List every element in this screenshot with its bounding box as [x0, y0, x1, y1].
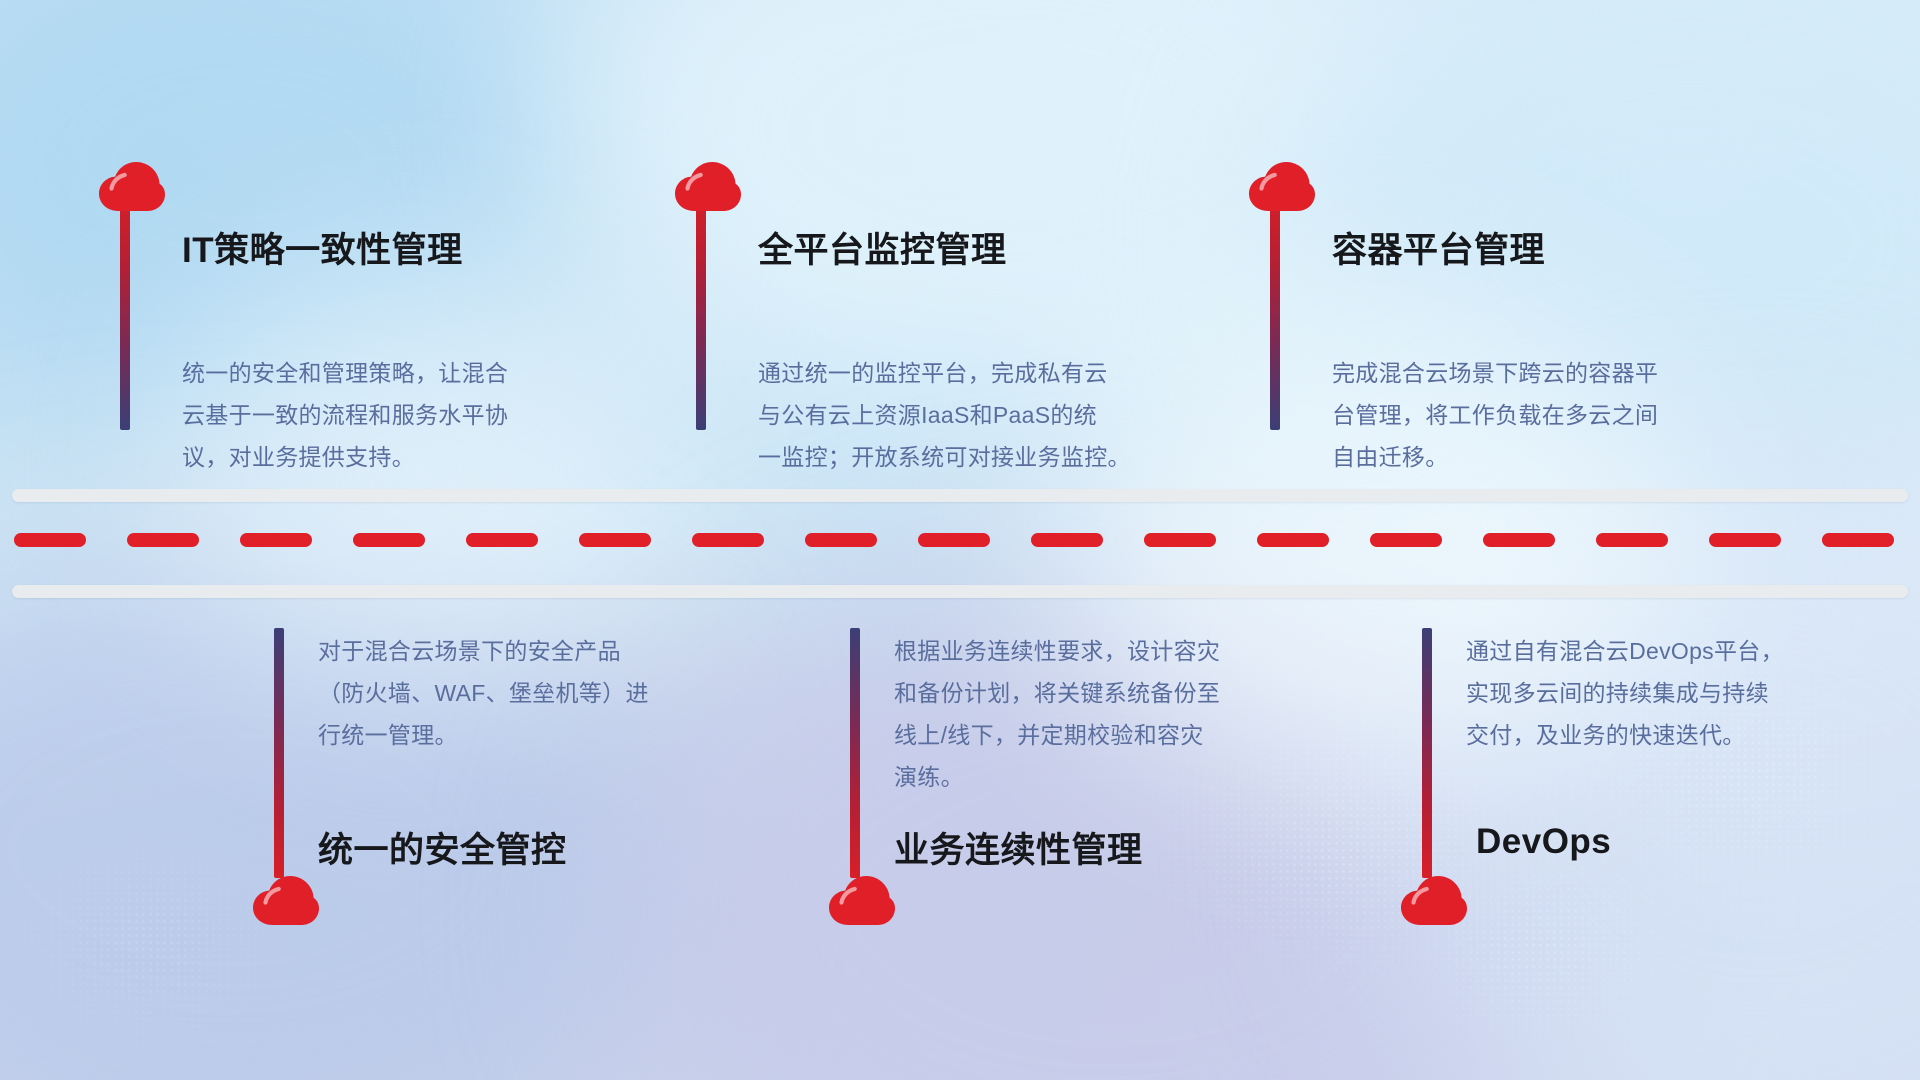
- body-line: 通过统一的监控平台，完成私有云: [758, 352, 1131, 394]
- body-line: 云基于一致的流程和服务水平协: [182, 394, 508, 436]
- feature-body-bottom-1: 对于混合云场景下的安全产品 （防火墙、WAF、堡垒机等）进 行统一管理。: [318, 630, 649, 756]
- body-line: 交付，及业务的快速迭代。: [1466, 714, 1784, 756]
- road-dash: [1031, 533, 1103, 547]
- road-dash: [353, 533, 425, 547]
- road-dash: [127, 533, 199, 547]
- feature-heading-bottom-3: DevOps: [1476, 822, 1611, 862]
- cloud-icon: [828, 876, 896, 926]
- cloud-icon: [1248, 162, 1316, 212]
- body-line: 与公有云上资源IaaS和PaaS的统: [758, 394, 1131, 436]
- cloud-icon: [674, 162, 742, 212]
- feature-body-bottom-3: 通过自有混合云DevOps平台， 实现多云间的持续集成与持续 交付，及业务的快速…: [1466, 630, 1784, 756]
- feature-heading-top-1: IT策略一致性管理: [182, 222, 463, 273]
- body-line: 实现多云间的持续集成与持续: [1466, 672, 1784, 714]
- background-blob: [0, 520, 680, 1080]
- body-line: 一监控；开放系统可对接业务监控。: [758, 436, 1131, 478]
- road-dash: [466, 533, 538, 547]
- body-line: 和备份计划，将关键系统备份至: [894, 672, 1220, 714]
- road-dash: [579, 533, 651, 547]
- feature-heading-top-3: 容器平台管理: [1332, 222, 1545, 273]
- body-line: 根据业务连续性要求，设计容灾: [894, 630, 1220, 672]
- body-line: 统一的安全和管理策略，让混合: [182, 352, 508, 394]
- road-dash: [918, 533, 990, 547]
- body-line: 对于混合云场景下的安全产品: [318, 630, 649, 672]
- road-dash: [1144, 533, 1216, 547]
- body-line: （防火墙、WAF、堡垒机等）进: [318, 672, 649, 714]
- cloud-icon: [1400, 876, 1468, 926]
- dot-texture: [1390, 830, 1690, 1060]
- pin-stem: [274, 628, 284, 878]
- dot-texture: [0, 820, 300, 1060]
- feature-heading-bottom-1: 统一的安全管控: [318, 822, 567, 873]
- road-dash: [1822, 533, 1894, 547]
- cloud-icon: [252, 876, 320, 926]
- road-divider: [0, 489, 1920, 599]
- pin-stem: [696, 190, 706, 430]
- road-edge-top: [12, 489, 1908, 502]
- road-dash: [692, 533, 764, 547]
- infographic-canvas: IT策略一致性管理 统一的安全和管理策略，让混合 云基于一致的流程和服务水平协 …: [0, 0, 1920, 1080]
- feature-body-top-2: 通过统一的监控平台，完成私有云 与公有云上资源IaaS和PaaS的统 一监控；开…: [758, 352, 1131, 478]
- road-dash: [805, 533, 877, 547]
- road-dash: [14, 533, 86, 547]
- road-dash: [1257, 533, 1329, 547]
- road-dash: [240, 533, 312, 547]
- body-line: 线上/线下，并定期校验和容灾: [894, 714, 1220, 756]
- cloud-icon: [98, 162, 166, 212]
- body-line: 自由迁移。: [1332, 436, 1658, 478]
- feature-body-bottom-2: 根据业务连续性要求，设计容灾 和备份计划，将关键系统备份至 线上/线下，并定期校…: [894, 630, 1220, 798]
- road-dash: [1709, 533, 1781, 547]
- pin-stem: [120, 190, 130, 430]
- body-line: 台管理，将工作负载在多云之间: [1332, 394, 1658, 436]
- feature-heading-bottom-2: 业务连续性管理: [894, 822, 1143, 873]
- road-edge-bottom: [12, 585, 1908, 598]
- feature-heading-top-2: 全平台监控管理: [758, 222, 1007, 273]
- pin-stem: [1422, 628, 1432, 878]
- road-dash: [1370, 533, 1442, 547]
- road-dash: [1483, 533, 1555, 547]
- body-line: 行统一管理。: [318, 714, 649, 756]
- road-dash: [1596, 533, 1668, 547]
- road-dash-row: [14, 533, 1914, 547]
- body-line: 完成混合云场景下跨云的容器平: [1332, 352, 1658, 394]
- body-line: 通过自有混合云DevOps平台，: [1466, 630, 1784, 672]
- feature-body-top-3: 完成混合云场景下跨云的容器平 台管理，将工作负载在多云之间 自由迁移。: [1332, 352, 1658, 478]
- body-line: 议，对业务提供支持。: [182, 436, 508, 478]
- pin-stem: [1270, 190, 1280, 430]
- feature-body-top-1: 统一的安全和管理策略，让混合 云基于一致的流程和服务水平协 议，对业务提供支持。: [182, 352, 508, 478]
- body-line: 演练。: [894, 756, 1220, 798]
- pin-stem: [850, 628, 860, 878]
